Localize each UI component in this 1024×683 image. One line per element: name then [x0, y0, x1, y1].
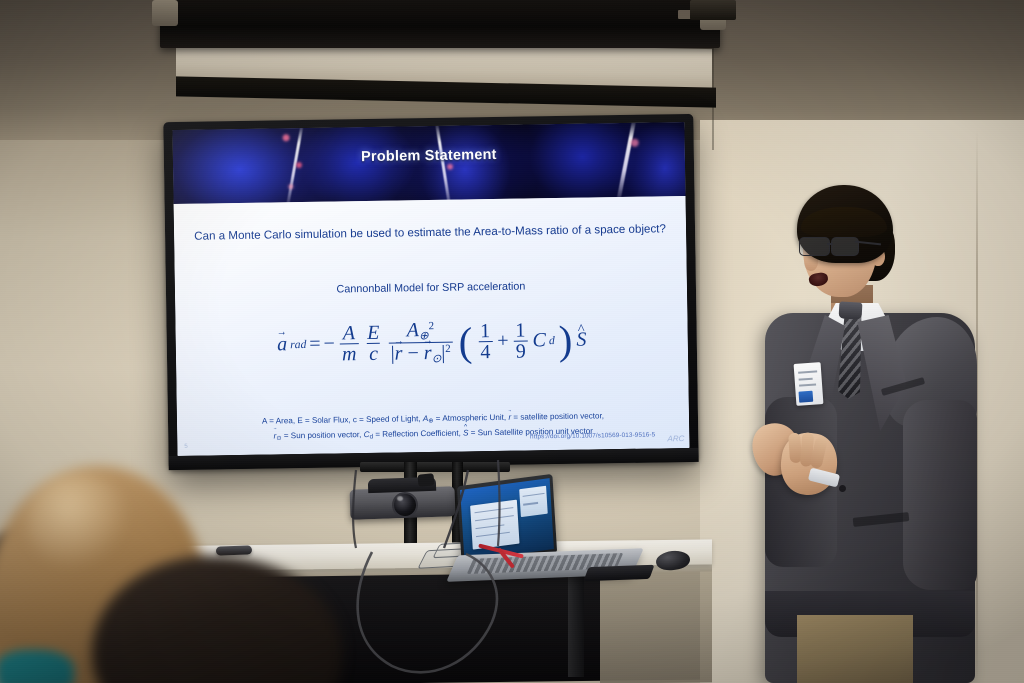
eq-lhs-symbol: a [277, 333, 287, 356]
plasma-spark-icon [283, 134, 290, 141]
eq-s-hat: S [576, 329, 586, 352]
legend-1c: = Atmospheric Unit, [433, 413, 508, 423]
presentation-photo-scene: Problem Statement Can a Monte Carlo simu… [0, 0, 1024, 683]
legend-1d: r [508, 411, 511, 424]
hair-fringe [801, 207, 887, 237]
eq-frac3-minus: − [407, 342, 419, 364]
eq-fraction-au-squared-over-distance: A⊕2 |r − r⊙|2 [388, 320, 453, 366]
suit-sleeve-right [903, 400, 977, 590]
eq-paren-open: ( [458, 327, 472, 357]
eq-frac3-r-sat: r [395, 344, 403, 365]
plasma-filament-icon [615, 122, 635, 204]
eq-frac2-den: c [367, 343, 380, 365]
eq-frac3-num-sup: 2 [428, 320, 434, 332]
eq-fraction-one-quarter: 1 4 [478, 321, 493, 363]
eyeglass-lens-left [799, 237, 830, 256]
audience-teal-top [0, 650, 74, 683]
ceiling-fixture [690, 0, 736, 20]
eq-paren-close: ) [558, 326, 572, 356]
eq-frac2-num: E [365, 322, 382, 343]
eyeglass-bridge [827, 243, 833, 245]
eq-frac3-exp: 2 [445, 343, 451, 355]
eq-frac3-sun-sub: ⊙ [432, 352, 442, 365]
eq-lhs-sub: rad [290, 338, 306, 351]
eq-fraction-e-over-c: E c [365, 322, 382, 364]
eq-frac5-den: 9 [514, 341, 528, 363]
slide-question: Can a Monte Carlo simulation be used to … [174, 222, 686, 243]
eq-equals: = [309, 333, 321, 356]
eq-frac3-r-sun: r [424, 343, 432, 364]
necktie-knot [839, 301, 863, 319]
badge-accent [799, 391, 814, 403]
eq-frac1-num: A [341, 323, 358, 344]
eq-minus: − [323, 333, 335, 356]
eq-frac1-den: m [340, 343, 359, 365]
presentation-slide: Problem Statement Can a Monte Carlo simu… [172, 122, 689, 456]
eq-frac5-num: 1 [513, 320, 527, 341]
tv-screen: Problem Statement Can a Monte Carlo simu… [172, 122, 689, 456]
eq-frac4-den: 4 [478, 341, 492, 363]
eq-fraction-one-ninth: 1 9 [513, 320, 528, 362]
eq-frac4-num: 1 [478, 321, 492, 342]
hair-highlight [26, 474, 130, 570]
slide-title: Problem Statement [173, 144, 685, 168]
wall-mounted-television[interactable]: Problem Statement Can a Monte Carlo simu… [163, 114, 698, 470]
trousers [797, 615, 913, 683]
plasma-spark-icon [288, 184, 293, 189]
housing-end-cap-left [152, 0, 178, 26]
legend-1a: A = Area, E = Solar Flux, c = Speed of L… [262, 414, 423, 426]
eq-cd-sub: d [549, 334, 555, 347]
eq-plus: + [497, 330, 509, 353]
jacket-button [839, 485, 846, 492]
eq-fraction-a-over-m: A m [340, 323, 359, 365]
slide-banner-image: Problem Statement [172, 122, 685, 204]
srp-equation: arad = − A m E c [175, 316, 688, 369]
projector-screen-housing [160, 0, 720, 48]
slide-body: Can a Monte Carlo simulation be used to … [174, 196, 690, 456]
eq-cd-base: C [532, 329, 546, 352]
eq-frac3-num-base: A [407, 319, 420, 341]
presenter [735, 185, 980, 683]
legend-1e: = satellite position vector, [511, 411, 604, 421]
conference-name-badge [794, 362, 824, 406]
plasma-spark-icon [447, 164, 453, 170]
eyeglasses-icon [797, 237, 879, 255]
slide-subtitle: Cannonball Model for SRP acceleration [175, 278, 687, 298]
eq-frac3-den: |r − r⊙|2 [389, 342, 453, 366]
